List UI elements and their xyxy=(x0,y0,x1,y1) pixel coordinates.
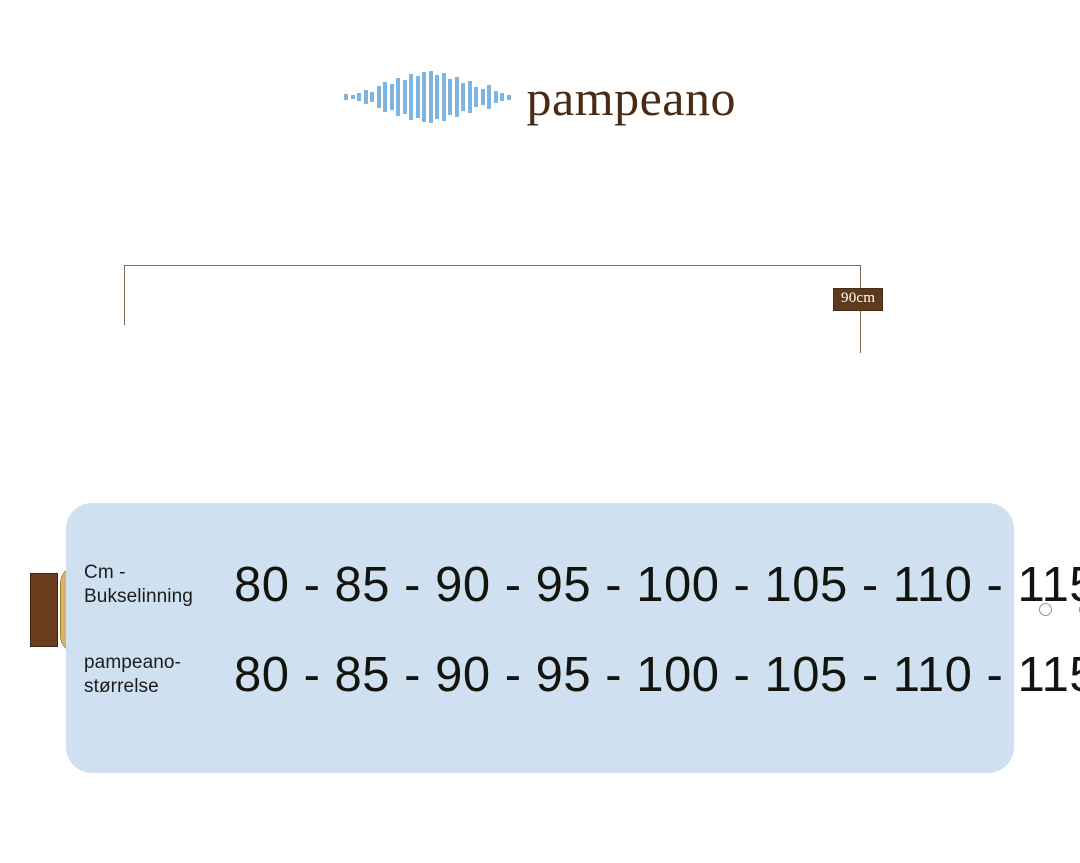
row-values-pampeano-size: 80 - 85 - 90 - 95 - 100 - 105 - 110 - 11… xyxy=(234,647,1080,703)
row-values-waist: 80 - 85 - 90 - 95 - 100 - 105 - 110 - 11… xyxy=(234,557,1080,613)
soundwave-bar xyxy=(429,71,433,123)
soundwave-bar xyxy=(357,93,361,101)
measurement-bracket xyxy=(124,265,861,325)
soundwave-bar xyxy=(455,77,459,117)
soundwave-bar xyxy=(435,75,439,119)
row-label-line2: størrelse xyxy=(84,675,234,699)
soundwave-bar xyxy=(500,93,504,101)
table-row: pampeano- størrelse 80 - 85 - 90 - 95 - … xyxy=(66,633,1014,717)
measurement-tick xyxy=(860,325,861,353)
soundwave-bar xyxy=(461,83,465,111)
soundwave-bar xyxy=(403,80,407,114)
soundwave-bar xyxy=(442,73,446,121)
row-label-waist: Cm - Bukselinning xyxy=(84,561,234,609)
soundwave-bar xyxy=(468,81,472,113)
soundwave-bar xyxy=(344,94,348,100)
soundwave-bar xyxy=(390,84,394,110)
soundwave-bar xyxy=(351,95,355,99)
table-row: Cm - Bukselinning 80 - 85 - 90 - 95 - 10… xyxy=(66,543,1014,627)
soundwave-icon xyxy=(344,71,511,123)
soundwave-bar xyxy=(507,95,511,100)
row-label-pampeano-size: pampeano- størrelse xyxy=(84,651,234,699)
soundwave-bar xyxy=(487,85,491,109)
row-label-line2: Bukselinning xyxy=(84,585,234,609)
belt-keeper-loop xyxy=(30,573,58,647)
measurement-label: 90cm xyxy=(833,288,883,311)
size-table-panel: Cm - Bukselinning 80 - 85 - 90 - 95 - 10… xyxy=(66,503,1014,773)
row-label-line1: Cm - xyxy=(84,561,234,585)
soundwave-bar xyxy=(474,87,478,107)
soundwave-bar xyxy=(364,90,368,104)
soundwave-bar xyxy=(377,86,381,108)
soundwave-bar xyxy=(370,92,374,102)
soundwave-bar xyxy=(448,79,452,115)
brand-logo: pampeano xyxy=(0,62,1080,132)
soundwave-bar xyxy=(481,89,485,105)
soundwave-bar xyxy=(494,91,498,103)
brand-wordmark: pampeano xyxy=(527,73,736,123)
soundwave-bar xyxy=(422,72,426,122)
soundwave-bar xyxy=(409,74,413,120)
soundwave-bar xyxy=(383,82,387,112)
row-label-line1: pampeano- xyxy=(84,651,234,675)
belt-diagram: pampeano xyxy=(0,255,1080,415)
soundwave-bar xyxy=(416,76,420,118)
soundwave-bar xyxy=(396,78,400,116)
